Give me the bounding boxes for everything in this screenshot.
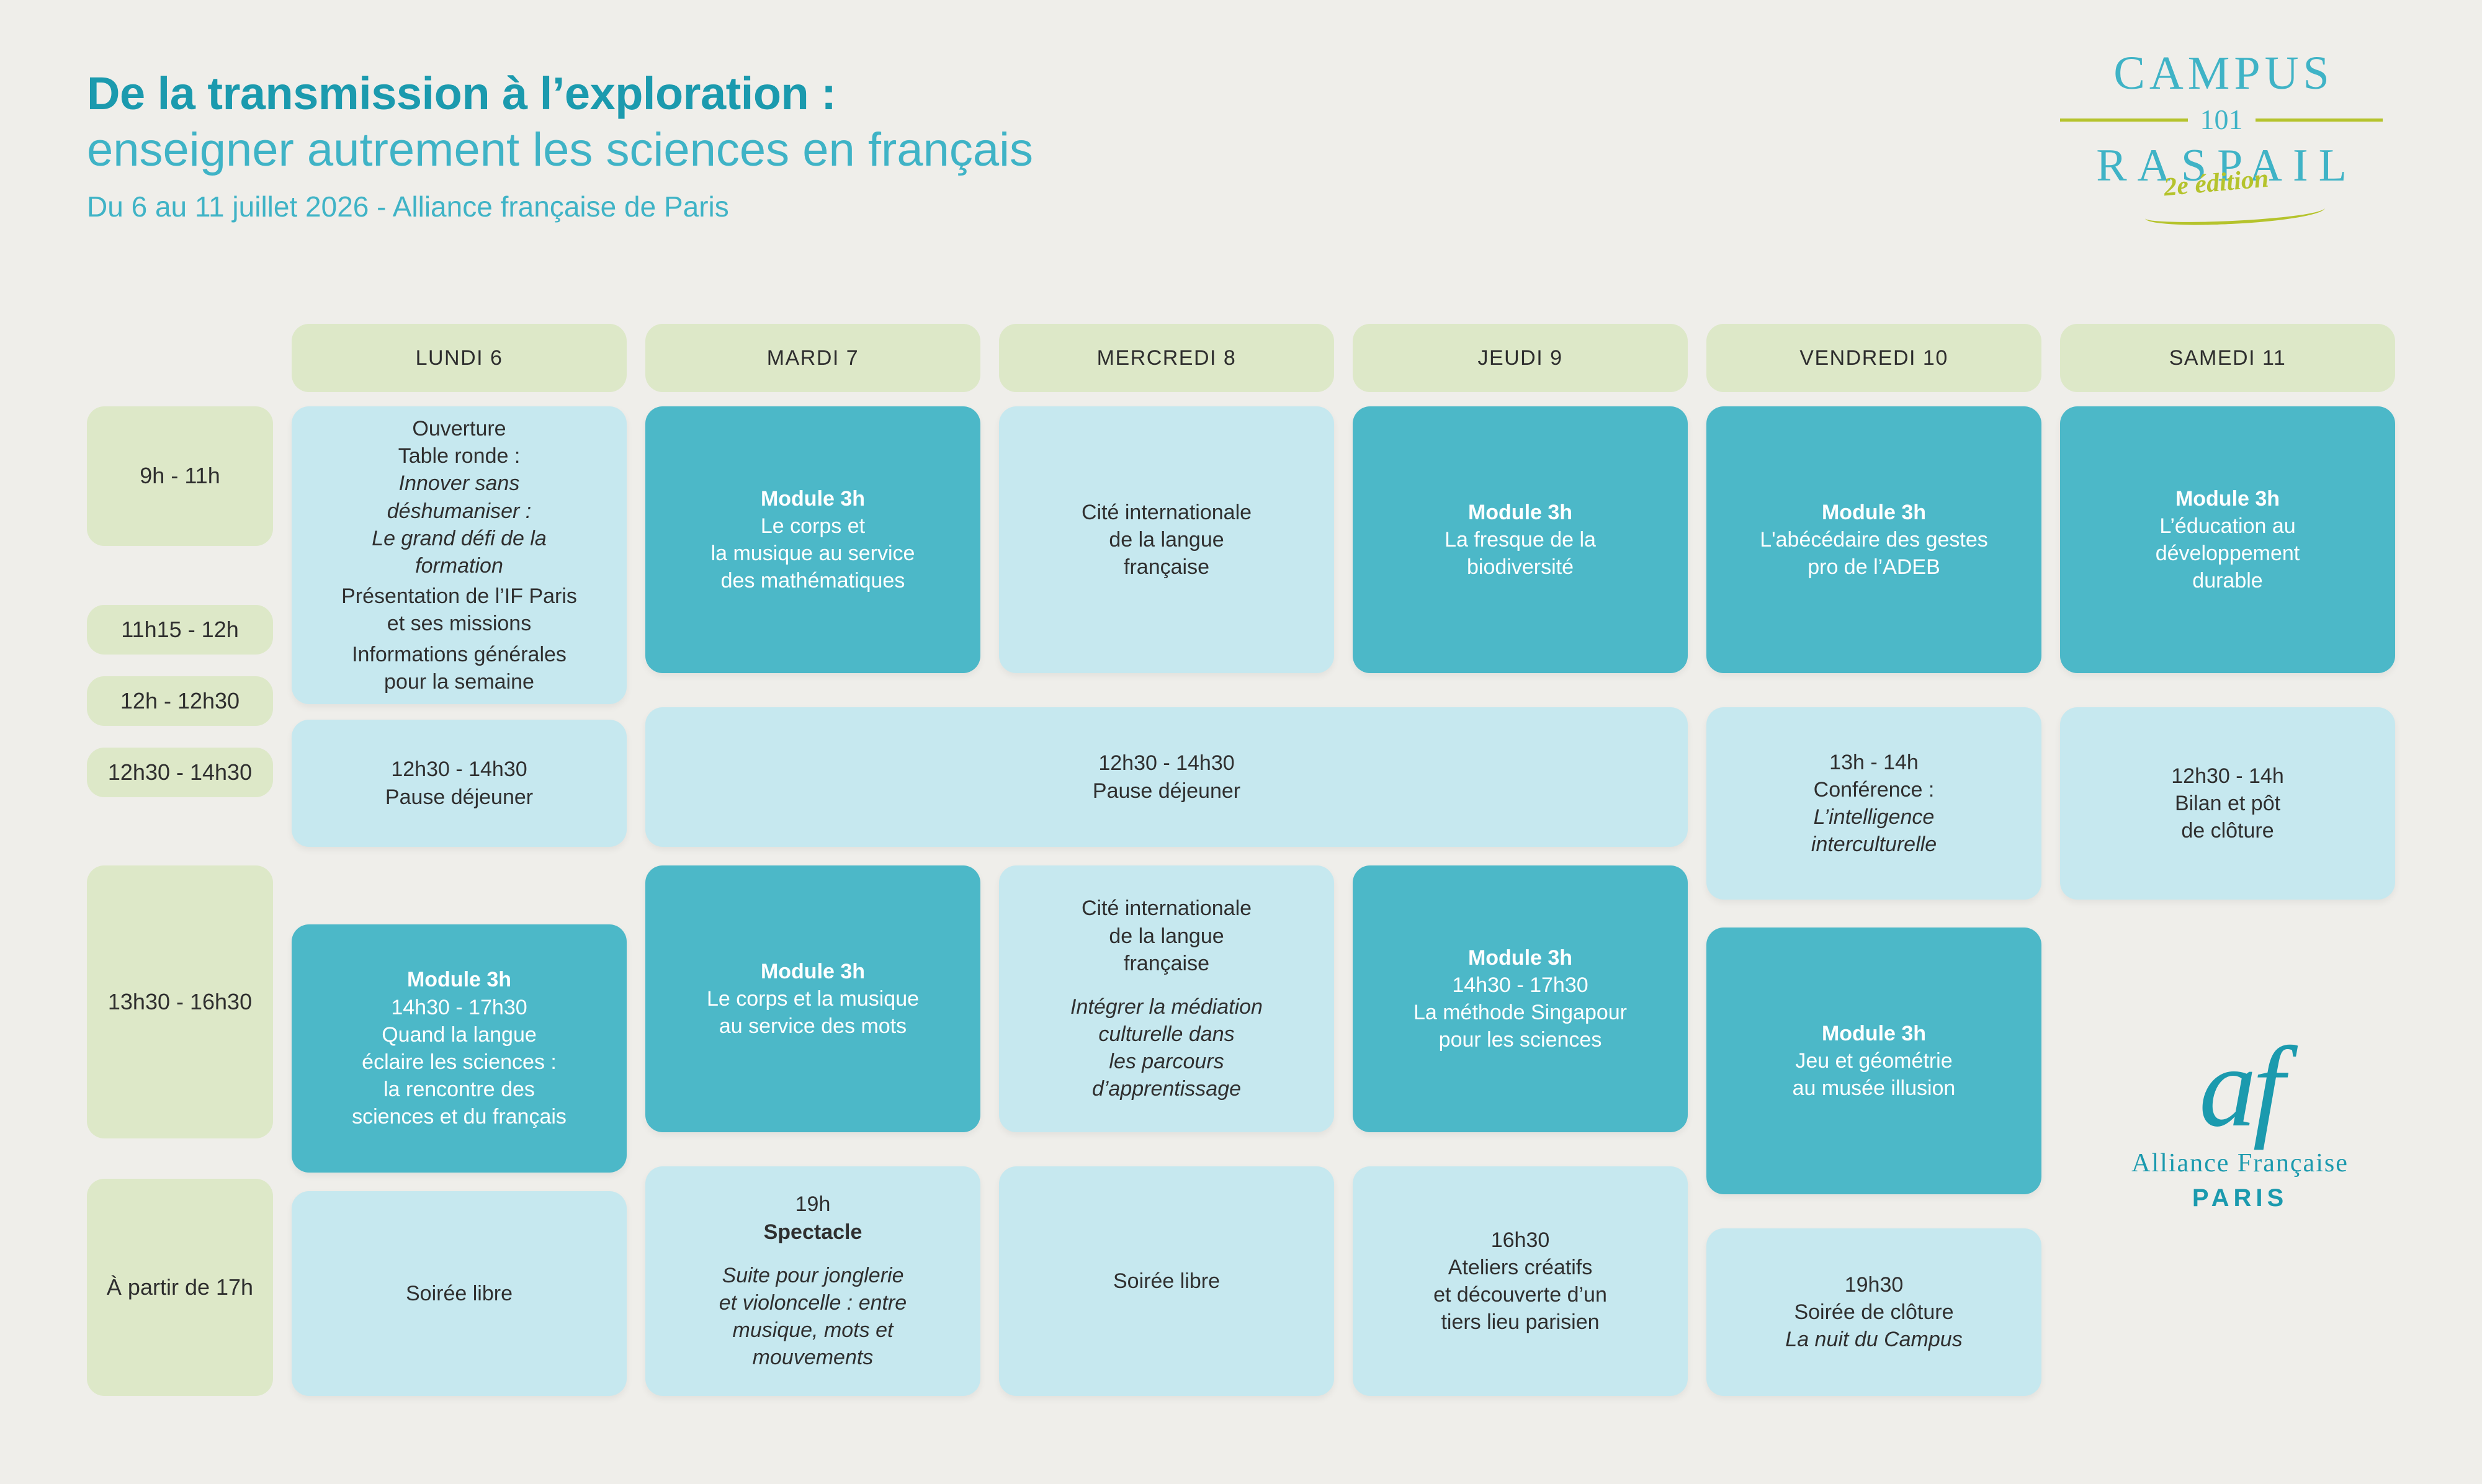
lundi-afternoon-l1: Module 3h — [407, 966, 511, 993]
vendredi-afternoon-l2: Jeu et géométrie — [1795, 1047, 1952, 1075]
lundi-afternoon-l5: la rencontre des — [383, 1076, 535, 1103]
event-jeudi-evening[interactable]: 16h30 Ateliers créatifs et découverte d’… — [1353, 1166, 1688, 1396]
jeudi-afternoon-l4: pour les sciences — [1439, 1026, 1602, 1053]
page-header: De la transmission à l’exploration : ens… — [87, 68, 1886, 224]
mercredi-afternoon-l3: française — [1124, 950, 1209, 977]
event-mercredi-morning[interactable]: Cité internationale de la langue françai… — [999, 406, 1334, 673]
mercredi-evening-label: Soirée libre — [1113, 1267, 1220, 1295]
vendredi-evening-l1: 19h30 — [1845, 1271, 1904, 1298]
logo-101-row: 101 — [2060, 105, 2383, 134]
event-jeudi-morning[interactable]: Module 3h La fresque de la biodiversité — [1353, 406, 1688, 673]
lundi-afternoon-l2: 14h30 - 17h30 — [391, 994, 527, 1021]
vendredi-morning-l3: pro de l’ADEB — [1808, 553, 1940, 581]
samedi-closing-l3: de clôture — [2181, 817, 2274, 844]
mercredi-morning-l2: de la langue — [1109, 526, 1224, 553]
jeudi-evening-l4: tiers lieu parisien — [1441, 1308, 1599, 1336]
logo-rule-right — [2256, 118, 2383, 122]
lundi-afternoon-l4: éclaire les sciences : — [362, 1048, 557, 1076]
jeudi-evening-l3: et découverte d’un — [1433, 1281, 1607, 1308]
vendredi-evening-l2: Soirée de clôture — [1794, 1298, 1953, 1326]
mercredi-afternoon-l7: d’apprentissage — [1092, 1075, 1241, 1102]
day-header-jeudi: JEUDI 9 — [1353, 324, 1688, 392]
event-mercredi-afternoon[interactable]: Cité internationale de la langue françai… — [999, 865, 1334, 1132]
lundi-morning-l2: Table ronde : — [398, 442, 521, 470]
lundi-morning-l1: Ouverture — [412, 415, 506, 442]
lundi-morning-l6: formation — [415, 552, 503, 579]
vendredi-afternoon-l1: Module 3h — [1822, 1020, 1926, 1047]
time-slot-13h30-16h30: 13h30 - 16h30 — [87, 865, 273, 1138]
event-shared-lunch-mardi-jeudi[interactable]: 12h30 - 14h30 Pause déjeuner — [645, 707, 1688, 847]
event-mardi-evening[interactable]: 19h Spectacle Suite pour jonglerie et vi… — [645, 1166, 980, 1396]
jeudi-morning-l1: Module 3h — [1468, 499, 1572, 526]
af-logo-city: PARIS — [2122, 1184, 2358, 1212]
vendredi-conference-l4: interculturelle — [1811, 831, 1937, 858]
mercredi-morning-l3: française — [1124, 553, 1209, 581]
lundi-lunch-time: 12h30 - 14h30 — [391, 756, 527, 783]
mardi-morning-l2: Le corps et — [761, 512, 865, 540]
event-lundi-afternoon[interactable]: Module 3h 14h30 - 17h30 Quand la langue … — [292, 924, 627, 1173]
mercredi-afternoon-l2: de la langue — [1109, 923, 1224, 950]
time-slot-12h30-14h30: 12h30 - 14h30 — [87, 748, 273, 797]
mardi-afternoon-l1: Module 3h — [761, 958, 865, 985]
event-samedi-morning[interactable]: Module 3h L’éducation au développement d… — [2060, 406, 2395, 673]
day-header-mercredi: MERCREDI 8 — [999, 324, 1334, 392]
af-logo-name: Alliance Française — [2122, 1148, 2358, 1178]
event-jeudi-afternoon[interactable]: Module 3h 14h30 - 17h30 La méthode Singa… — [1353, 865, 1688, 1132]
lundi-morning-l9: Informations générales — [352, 641, 567, 668]
event-lundi-morning[interactable]: Ouverture Table ronde : Innover sans dés… — [292, 406, 627, 704]
page-title-line2: enseigner autrement les sciences en fran… — [87, 123, 1886, 176]
lundi-morning-l7: Présentation de l’IF Paris — [341, 583, 577, 610]
event-mardi-morning[interactable]: Module 3h Le corps et la musique au serv… — [645, 406, 980, 673]
event-vendredi-evening[interactable]: 19h30 Soirée de clôture La nuit du Campu… — [1706, 1228, 2041, 1396]
mardi-evening-l6: mouvements — [753, 1344, 874, 1371]
event-lundi-evening[interactable]: Soirée libre — [292, 1191, 627, 1396]
page-subtitle: Du 6 au 11 juillet 2026 - Alliance franç… — [87, 190, 1886, 224]
logo-swoosh-underline — [2144, 199, 2325, 227]
page-title-line1: De la transmission à l’exploration : — [87, 68, 1886, 120]
samedi-morning-l3: développement — [2156, 540, 2300, 567]
campus-101-raspail-logo: CAMPUS 101 RASPAIL 2e édition — [2060, 50, 2383, 236]
samedi-closing-l1: 12h30 - 14h — [2171, 762, 2284, 790]
mardi-evening-l2: Spectacle — [764, 1218, 862, 1246]
time-slot-11h15-12h: 11h15 - 12h — [87, 605, 273, 655]
event-vendredi-conference[interactable]: 13h - 14h Conférence : L’intelligence in… — [1706, 707, 2041, 900]
event-samedi-closing[interactable]: 12h30 - 14h Bilan et pôt de clôture — [2060, 707, 2395, 900]
mardi-evening-l5: musique, mots et — [733, 1316, 894, 1344]
mercredi-morning-l1: Cité internationale — [1082, 499, 1252, 526]
lundi-morning-l4: déshumaniser : — [387, 498, 531, 525]
mercredi-afternoon-l1: Cité internationale — [1082, 895, 1252, 922]
vendredi-evening-l3: La nuit du Campus — [1785, 1326, 1962, 1353]
time-slot-12h-12h30: 12h - 12h30 — [87, 676, 273, 726]
mardi-evening-l4: et violoncelle : entre — [719, 1289, 907, 1316]
vendredi-morning-l2: L'abécédaire des gestes — [1760, 526, 1988, 553]
alliance-francaise-logo: af Alliance Française PARIS — [2122, 1030, 2358, 1212]
vendredi-afternoon-l3: au musée illusion — [1793, 1075, 1956, 1102]
mardi-morning-l3: la musique au service — [711, 540, 915, 567]
samedi-morning-l2: L’éducation au — [2159, 512, 2295, 540]
time-slot-a-partir-17h: À partir de 17h — [87, 1179, 273, 1396]
vendredi-conference-l2: Conférence : — [1814, 776, 1935, 803]
jeudi-afternoon-l2: 14h30 - 17h30 — [1452, 972, 1588, 999]
time-slot-9h-11h: 9h - 11h — [87, 406, 273, 546]
jeudi-morning-l2: La fresque de la — [1445, 526, 1596, 553]
jeudi-afternoon-l3: La méthode Singapour — [1413, 999, 1627, 1026]
lundi-morning-l8: et ses missions — [387, 610, 531, 637]
logo-101-number: 101 — [2188, 105, 2256, 134]
lundi-morning-l3: Innover sans — [399, 470, 520, 497]
vendredi-morning-l1: Module 3h — [1822, 499, 1926, 526]
af-monogram-icon: af — [2122, 1030, 2358, 1145]
mardi-afternoon-l2: Le corps et la musique — [707, 985, 919, 1012]
shared-lunch-time: 12h30 - 14h30 — [1098, 749, 1234, 777]
mardi-afternoon-l3: au service des mots — [719, 1012, 907, 1040]
mardi-morning-l4: des mathématiques — [721, 567, 905, 594]
lundi-lunch-label: Pause déjeuner — [385, 784, 533, 811]
event-vendredi-morning[interactable]: Module 3h L'abécédaire des gestes pro de… — [1706, 406, 2041, 673]
day-header-samedi: SAMEDI 11 — [2060, 324, 2395, 392]
day-header-mardi: MARDI 7 — [645, 324, 980, 392]
logo-raspail-word: RASPAIL 2e édition — [2071, 143, 2383, 189]
event-vendredi-afternoon[interactable]: Module 3h Jeu et géométrie au musée illu… — [1706, 927, 2041, 1194]
vendredi-conference-l3: L’intelligence — [1814, 803, 1935, 831]
vendredi-conference-l1: 13h - 14h — [1829, 749, 1919, 776]
lundi-afternoon-l6: sciences et du français — [352, 1103, 567, 1130]
mardi-morning-l1: Module 3h — [761, 485, 865, 512]
event-mardi-afternoon[interactable]: Module 3h Le corps et la musique au serv… — [645, 865, 980, 1132]
jeudi-evening-l1: 16h30 — [1491, 1227, 1550, 1254]
event-mercredi-evening[interactable]: Soirée libre — [999, 1166, 1334, 1396]
lundi-morning-l10: pour la semaine — [384, 668, 534, 695]
event-lundi-lunch[interactable]: 12h30 - 14h30 Pause déjeuner — [292, 720, 627, 847]
mercredi-afternoon-l6: les parcours — [1109, 1048, 1224, 1075]
jeudi-afternoon-l1: Module 3h — [1468, 944, 1572, 972]
shared-lunch-label: Pause déjeuner — [1093, 777, 1240, 805]
mardi-evening-l1: 19h — [795, 1191, 831, 1218]
jeudi-morning-l3: biodiversité — [1467, 553, 1574, 581]
logo-rule-left — [2060, 118, 2188, 122]
samedi-closing-l2: Bilan et pôt — [2175, 790, 2280, 817]
logo-campus-word: CAMPUS — [2064, 50, 2383, 97]
mercredi-afternoon-l5: culturelle dans — [1098, 1021, 1234, 1048]
mercredi-afternoon-l4: Intégrer la médiation — [1070, 993, 1263, 1021]
day-header-lundi: LUNDI 6 — [292, 324, 627, 392]
day-header-vendredi: VENDREDI 10 — [1706, 324, 2041, 392]
mardi-evening-l3: Suite pour jonglerie — [722, 1262, 904, 1289]
samedi-morning-l1: Module 3h — [2175, 485, 2280, 512]
lundi-morning-l5: Le grand défi de la — [372, 525, 547, 552]
lundi-afternoon-l3: Quand la langue — [382, 1021, 537, 1048]
lundi-evening-label: Soirée libre — [406, 1280, 513, 1307]
samedi-morning-l4: durable — [2192, 567, 2262, 594]
jeudi-evening-l2: Ateliers créatifs — [1448, 1254, 1592, 1281]
